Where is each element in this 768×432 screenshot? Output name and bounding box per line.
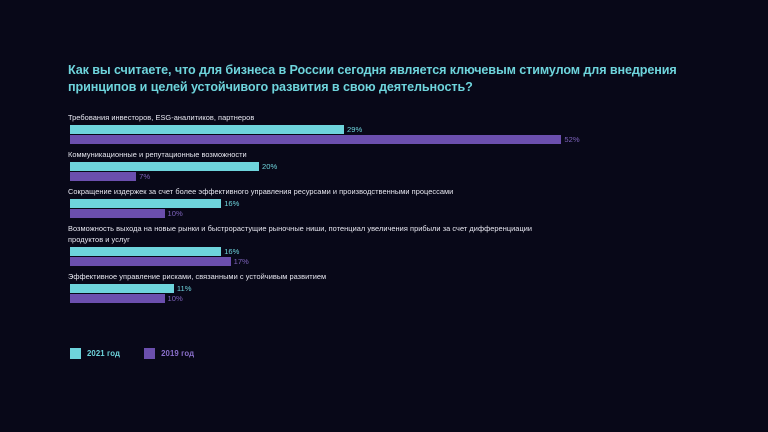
bar-y2021 [70,162,259,171]
category-label: Коммуникационные и репутационные возможн… [68,149,568,160]
bar-y2021 [70,199,221,208]
bar-row: 17% [70,257,708,266]
bar-row: 16% [70,247,708,256]
slide-canvas: Как вы считаете, что для бизнеса в Росси… [0,0,768,432]
bar-row: 10% [70,294,708,303]
bar-group: Коммуникационные и репутационные возможн… [68,149,708,181]
bar-row: 10% [70,209,708,218]
bar-y2019 [70,209,165,218]
legend-item-y2021[interactable]: 2021 год [70,348,120,359]
legend-swatch-icon [70,348,81,359]
category-label: Эффективное управление рисками, связанны… [68,271,568,282]
bar-value-label: 16% [224,247,239,256]
category-label: Сокращение издержек за счет более эффект… [68,186,568,197]
bar-y2021 [70,125,344,134]
bar-row: 7% [70,172,708,181]
legend-item-y2019[interactable]: 2019 год [144,348,194,359]
bar-y2019 [70,257,231,266]
bar-value-label: 10% [168,294,183,303]
bar-value-label: 10% [168,209,183,218]
bar-y2019 [70,294,165,303]
bar-row: 29% [70,125,708,134]
bar-group: Сокращение издержек за счет более эффект… [68,186,708,218]
bar-y2021 [70,284,174,293]
legend-label: 2019 год [161,349,194,358]
bar-chart: Требования инвесторов, ESG-аналитиков, п… [68,112,708,308]
bar-value-label: 11% [177,284,192,293]
bar-row: 20% [70,162,708,171]
bar-value-label: 7% [139,172,150,181]
bar-value-label: 20% [262,162,277,171]
bar-value-label: 17% [234,257,249,266]
category-label: Требования инвесторов, ESG-аналитиков, п… [68,112,568,123]
legend-swatch-icon [144,348,155,359]
bar-row: 11% [70,284,708,293]
bar-group: Возможность выхода на новые рынки и быст… [68,223,708,266]
chart-title: Как вы считаете, что для бизнеса в Росси… [68,62,704,95]
bar-y2021 [70,247,221,256]
bar-group: Требования инвесторов, ESG-аналитиков, п… [68,112,708,144]
bar-value-label: 52% [564,135,579,144]
bar-y2019 [70,135,561,144]
bar-value-label: 29% [347,125,362,134]
chart-legend: 2021 год2019 год [70,348,218,359]
bar-group: Эффективное управление рисками, связанны… [68,271,708,303]
category-label: Возможность выхода на новые рынки и быст… [68,223,568,245]
bar-row: 52% [70,135,708,144]
bar-row: 16% [70,199,708,208]
legend-label: 2021 год [87,349,120,358]
bar-value-label: 16% [224,199,239,208]
bar-y2019 [70,172,136,181]
